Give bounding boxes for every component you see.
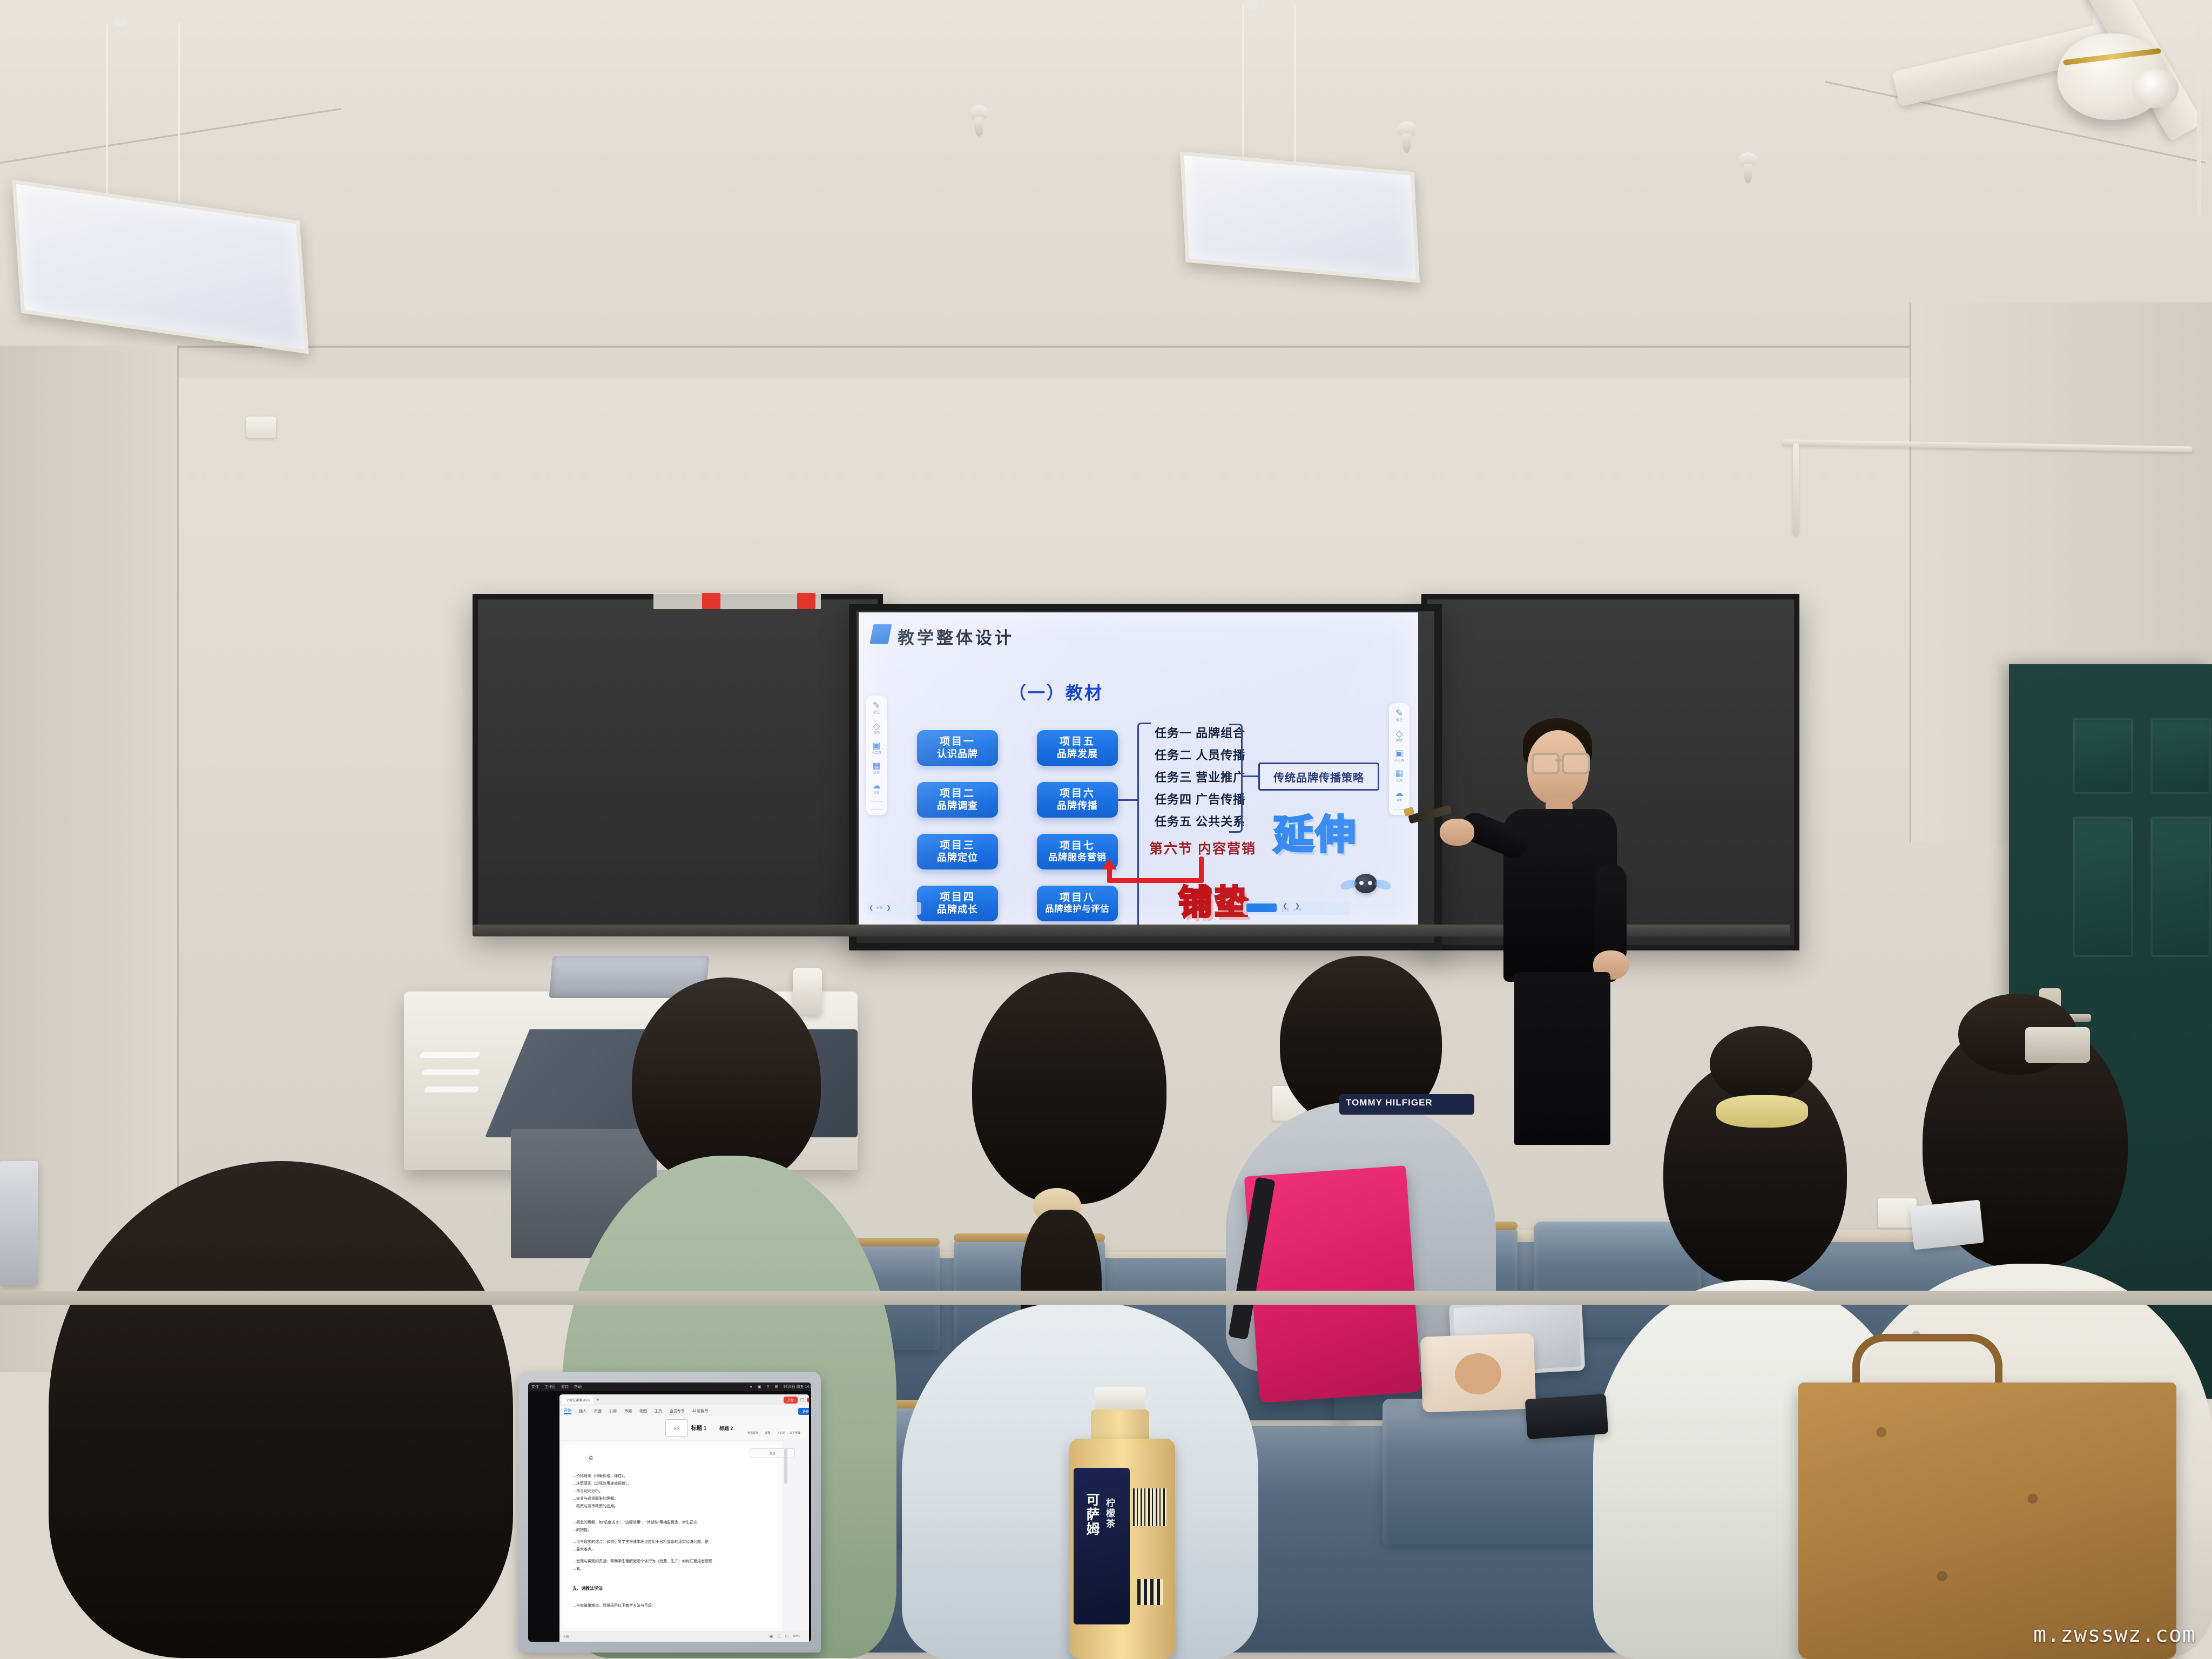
audience-foreground-left	[0, 1161, 572, 1659]
tool-eraser-right[interactable]: ◇ 擦除	[1395, 729, 1402, 743]
project-box-1[interactable]: 项目一 认识品牌	[917, 730, 998, 766]
tool-pen-right-label: 批注	[1396, 719, 1402, 722]
robot-wing-left	[1339, 878, 1357, 891]
tool-pen-right[interactable]: ✎ 批注	[1395, 709, 1403, 722]
tool-apps-left[interactable]: ▦ 应用	[872, 762, 880, 775]
tool-apps-left-label: 应用	[873, 772, 880, 775]
ribbon-tab-review[interactable]: 审阅	[624, 1408, 632, 1414]
audience-head-1	[49, 1161, 513, 1658]
red-arrow-head	[1102, 859, 1117, 869]
project-7-name: 品牌服务营销	[1048, 852, 1107, 863]
apps-icon: ▦	[872, 762, 880, 771]
laptop-screen[interactable]: 文件 工作区 窗口 帮助 ● ▣ ⚲ ☰ 9月5日 周五 14:05 平章说课课…	[528, 1382, 811, 1642]
ribbon-tab-insert[interactable]: 插入	[579, 1408, 586, 1414]
ribbon-content[interactable]: A 内容	[778, 1431, 785, 1435]
project-8-name: 品牌维护与评估	[1045, 905, 1109, 915]
robot-wing-right	[1374, 878, 1392, 891]
wps-ribbon-tabs[interactable]: 开始 插入 页面 引用 审阅 视图 工具 会员专享 AI 帮我写 协作	[559, 1406, 809, 1416]
pen-icon: ✎	[1395, 709, 1403, 718]
status-page-label: 页面	[563, 1635, 569, 1638]
strategy-label-box: 传统品牌传播策略	[1258, 763, 1379, 791]
board-tape-left	[653, 593, 821, 609]
project-5-number: 项目五	[1060, 736, 1095, 748]
tool-capture-right-label: 小工具	[1394, 759, 1404, 763]
comment-chip[interactable]: 批注	[750, 1448, 795, 1458]
task-bracket-right	[1229, 724, 1243, 833]
tool-apps-right[interactable]: ▦ 应用	[1395, 770, 1403, 783]
window-restore-icon[interactable]: ☐	[800, 1398, 804, 1402]
sprinkler-head-2	[1394, 122, 1419, 155]
ceiling-fan	[1998, 0, 2212, 227]
doc-line-5: …政策与货币政策的应用。	[572, 1503, 618, 1509]
light-mount-center	[1245, 0, 1259, 10]
annotation-yanshen: 延伸	[1273, 802, 1358, 860]
document-scrollbar[interactable]	[784, 1448, 787, 1484]
tool-eraser-left-label: 擦除	[873, 732, 880, 735]
project-7-number: 项目七	[1060, 840, 1095, 852]
door-panel-top-right	[2150, 718, 2211, 794]
project-2-name: 品牌调查	[937, 800, 978, 812]
hair-bun	[1710, 1026, 1812, 1102]
presenter-hand-pointing	[1440, 819, 1474, 846]
bottle-label	[1074, 1468, 1130, 1624]
strategy-label-text: 传统品牌传播策略	[1273, 769, 1364, 785]
menubar-clock: 9月5日 周五 14:05	[784, 1384, 811, 1390]
ceiling-panel-light-center	[1180, 151, 1420, 282]
nav-prev-label: 上一页	[1281, 909, 1289, 912]
doc-line-13: …与突破重难点，我将采用以下教学方法与手段：	[572, 1603, 656, 1608]
secondary-laptop-sliver[interactable]	[0, 1161, 38, 1285]
annotation-pudian: 铺垫	[1178, 875, 1251, 923]
doc-line-10: …宏观与微观的贯通：帮助学生理解微观个体行为（消费、生产）如何汇聚成宏观现	[572, 1559, 712, 1564]
account-upgrade-badge[interactable]: 升级	[784, 1397, 798, 1404]
bottle-neck	[1091, 1410, 1149, 1443]
connector-strategy	[1241, 775, 1258, 777]
comment-chip-label: 批注	[770, 1452, 775, 1455]
glasses-lens-right	[1562, 753, 1590, 774]
project-box-2[interactable]: 项目二 品牌调查	[917, 782, 998, 818]
tool-pen-left[interactable]: ✎ 批注	[873, 701, 880, 714]
battery-icon[interactable]: ▣	[758, 1385, 761, 1389]
project-1-name: 认识品牌	[937, 748, 978, 760]
doc-line-0: 点	[589, 1455, 593, 1461]
notebook-on-desk[interactable]	[1910, 1199, 1984, 1250]
light-mount-left	[113, 16, 127, 26]
slide-nav-bar[interactable]: ❮ 上一页 ❯ 下一页	[1243, 901, 1350, 915]
chevron-right-icon-2[interactable]: ❯	[886, 906, 891, 911]
project-8-number: 项目八	[1060, 892, 1095, 904]
project-1-number: 项目一	[940, 736, 975, 748]
ceiling-seam-b	[0, 346, 2212, 348]
pencil-pouch[interactable]	[1420, 1333, 1536, 1412]
search-icon[interactable]: ⚲	[766, 1385, 769, 1389]
view-web-icon[interactable]: ☐	[785, 1634, 788, 1638]
door-panel-top-left	[2073, 718, 2133, 794]
ribbon-tab-ai[interactable]: AI 帮我写	[692, 1408, 709, 1414]
doc-line-1: …价格理论（均衡价格、弹性）。	[572, 1473, 628, 1479]
tool-eraser-right-label: 擦除	[1396, 739, 1402, 743]
nav-progress-chip	[1246, 903, 1277, 912]
hair-band-yellow	[1716, 1095, 1808, 1128]
wifi-icon[interactable]: ●	[750, 1385, 752, 1389]
ribbon-tab-member[interactable]: 会员专享	[670, 1408, 685, 1414]
wps-tabbar[interactable]: 平章说课课.docx + 升级 ☐	[559, 1394, 809, 1405]
project-box-5[interactable]: 项目五 品牌发展	[1037, 730, 1118, 766]
mcm-handbag[interactable]	[1798, 1382, 2176, 1659]
bottle-sub-text: 柠檬茶	[1103, 1498, 1116, 1529]
style-heading-1[interactable]: 标题 1	[691, 1424, 706, 1432]
project-3-name: 品牌定位	[937, 852, 978, 864]
pen-icon: ✎	[873, 701, 880, 710]
wps-share-button[interactable]: 协作	[798, 1408, 809, 1415]
bottle-cap[interactable]	[1095, 1387, 1145, 1412]
project-2-number: 项目二	[940, 788, 975, 800]
laptop-menubar[interactable]: 文件 工作区 窗口 帮助 ● ▣ ⚲ ☰ 9月5日 周五 14:05	[528, 1382, 811, 1391]
blackboard-left	[473, 594, 883, 934]
project-box-4[interactable]: 项目四 品牌成长	[917, 886, 998, 921]
menubar-window[interactable]: 窗口	[561, 1384, 569, 1390]
fan-light-lens	[2132, 69, 2179, 108]
bottle-brand-text: 可萨姆	[1082, 1493, 1102, 1536]
eraser-icon: ◇	[1395, 729, 1402, 738]
hair-clip	[2025, 1027, 2090, 1063]
tool-pen-left-label: 批注	[873, 711, 880, 714]
project-5-name: 品牌发展	[1057, 748, 1098, 760]
project-box-3[interactable]: 项目三 品牌定位	[917, 834, 998, 869]
tool-capture-left[interactable]: ▣ 小工具	[872, 742, 881, 755]
toolbar-left-separator-2	[871, 809, 882, 810]
menubar-workspace[interactable]: 工作区	[544, 1384, 556, 1390]
menubar-help[interactable]: 帮助	[574, 1384, 582, 1390]
door-panel-bottom-left	[2073, 817, 2133, 957]
tool-cloud-right-label: 云盘	[1397, 799, 1402, 802]
project-3-number: 项目三	[940, 840, 975, 852]
ribbon-tab-view[interactable]: 视图	[639, 1408, 647, 1414]
wall-switch-plate-left[interactable]	[246, 416, 277, 439]
cloud-icon: ☁	[1395, 790, 1404, 798]
smartboard-toolbar-left[interactable]: ✎ 批注 ◇ 擦除 ▣ 小工具 ▦ 应用 ☁ 云盘	[866, 696, 887, 815]
apps-icon: ▦	[1395, 770, 1403, 778]
doc-line-6: …概念的理解：如“机会成本”、“边际效用”、“外部性”等抽象概念，学生初次	[572, 1520, 697, 1525]
nav-page-indicator: 9/32	[876, 907, 883, 910]
doc-line-9: …最大难点。	[572, 1547, 595, 1552]
project-4-number: 项目四	[940, 892, 975, 903]
bottle-qr-code	[1137, 1579, 1163, 1605]
podium-vent-1	[419, 1052, 481, 1058]
eraser-icon: ◇	[873, 721, 880, 731]
ceiling	[0, 0, 2212, 410]
robot-eye-right	[1368, 881, 1372, 885]
door-panel-bottom-right	[2150, 817, 2211, 957]
slide-nav-bar-left[interactable]: ❮ 9/32 ❯	[866, 902, 921, 915]
laptop[interactable]: 文件 工作区 窗口 帮助 ● ▣ ⚲ ☰ 9月5日 周五 14:05 平章说课课…	[518, 1372, 832, 1659]
plus-icon[interactable]: +	[596, 1397, 599, 1402]
ribbon-tab-tools[interactable]: 工具	[655, 1408, 662, 1414]
doc-line-2: …决策原则（边际效用递减规律）。	[572, 1481, 631, 1486]
light-rod-left-1	[106, 23, 108, 201]
light-rod-center-1	[1242, 4, 1244, 166]
section-six-label: 第六节 内容营销	[1149, 838, 1256, 858]
sprinkler-head-3	[1736, 152, 1761, 186]
classroom-scene: 教学整体设计 （一）教材 项目一 认识品牌 项目二 品牌调查 项目三 品牌定位 …	[0, 0, 2212, 1659]
style-normal-box[interactable]: 正文	[665, 1419, 688, 1437]
ribbon-select[interactable]: 选择	[765, 1431, 770, 1435]
phone-on-desk[interactable]	[1525, 1394, 1609, 1439]
light-rod-left-2	[178, 23, 180, 201]
tool-cloud-left-label: 云盘	[874, 792, 879, 794]
tool-capture-right[interactable]: ▣ 小工具	[1394, 750, 1404, 763]
cloud-icon: ☁	[872, 782, 881, 791]
nav-next-label: 下一页	[1293, 909, 1301, 912]
drink-bottle[interactable]: 可萨姆 柠檬茶	[1062, 1387, 1186, 1659]
project-box-6[interactable]: 项目六 品牌传播	[1037, 782, 1118, 818]
doc-heading-5: 五、说教法学法	[572, 1586, 603, 1591]
smartboard-toolbar-right[interactable]: ✎ 批注 ◇ 擦除 ▣ 小工具 ▦ 应用 ☁ 云盘	[1389, 703, 1410, 815]
zoom-out-icon[interactable]: −	[804, 1635, 806, 1638]
document-page[interactable]: 点 …价格理论（均衡价格、弹性）。 …决策原则（边际效用递减规律）。 …本与利润…	[559, 1441, 783, 1631]
wps-doc-tab[interactable]: 平章说课课.docx	[562, 1395, 594, 1404]
zoom-level-label: 100%	[793, 1635, 800, 1638]
wall-baseboard	[0, 1291, 2212, 1305]
view-layout-icon[interactable]: ▣	[770, 1634, 773, 1638]
control-center-icon[interactable]: ☰	[775, 1385, 778, 1389]
style-heading-2[interactable]: 标题 2	[719, 1425, 733, 1432]
tool-eraser-left[interactable]: ◇ 擦除	[873, 721, 880, 735]
doc-line-4: …失业与通货膨胀的理解。	[572, 1496, 618, 1501]
doc-line-7: …的把握。	[572, 1527, 591, 1533]
shirt-brand-label: TOMMY HILFIGER	[1346, 1097, 1433, 1108]
light-rod-center-2	[1294, 4, 1296, 166]
ribbon-find-replace[interactable]: 查找替换	[747, 1431, 758, 1435]
tool-apps-right-label: 应用	[1396, 779, 1402, 783]
podium-vent-3	[423, 1087, 480, 1092]
tool-cloud-right[interactable]: ☁ 云盘	[1395, 790, 1404, 802]
glasses-lens-left	[1532, 753, 1560, 774]
menubar-file[interactable]: 文件	[531, 1384, 539, 1390]
image-watermark: m.zwsswz.com	[2033, 1622, 2196, 1647]
ribbon-tab-reference[interactable]: 引用	[609, 1408, 617, 1414]
smartboard-screen[interactable]: 教学整体设计 （一）教材 项目一 认识品牌 项目二 品牌调查 项目三 品牌定位 …	[859, 612, 1418, 926]
toolbar-left-separator	[871, 801, 882, 802]
doc-line-11: …象。	[572, 1566, 584, 1572]
slide-subtitle: （一）教材	[1009, 679, 1103, 704]
doc-line-3: …本与利润分析。	[572, 1488, 603, 1494]
ribbon-tab-home[interactable]: 开始	[564, 1408, 571, 1414]
podium-vent-2	[421, 1069, 481, 1075]
pouch-character-face	[1454, 1353, 1502, 1395]
bottle-barcode	[1133, 1488, 1166, 1526]
task-bracket-left	[1137, 723, 1151, 926]
slide-header-title: 教学整体设计	[898, 624, 1014, 649]
robot-eye-left	[1359, 881, 1364, 885]
ribbon-typography[interactable]: 文字排版	[790, 1431, 800, 1435]
robot-assistant-icon[interactable]	[1354, 874, 1377, 893]
project-4-name: 品牌成长	[937, 904, 978, 915]
tool-cloud-left[interactable]: ☁ 云盘	[872, 782, 881, 794]
capture-icon: ▣	[1395, 750, 1403, 758]
connector-project6	[1118, 799, 1137, 801]
capture-icon: ▣	[872, 742, 880, 751]
tool-capture-left-label: 小工具	[872, 752, 881, 755]
wps-statusbar[interactable]: 页面 ▣ ☰ ☐ 100% − +	[559, 1631, 809, 1642]
project-6-name: 品牌传播	[1057, 800, 1098, 812]
slide-accent-tag	[870, 624, 892, 644]
window-close-icon[interactable]	[807, 1398, 809, 1402]
glasses-bridge	[1555, 759, 1563, 761]
wall-corner-right	[1910, 302, 1911, 842]
wall-conduit-vertical	[1793, 443, 1799, 535]
fan-rod-secondary	[2197, 22, 2201, 216]
doc-line-8: …论与现实的结合：如何引导学生将课本理论应用于分析复杂的现实经济问题，是	[572, 1539, 709, 1545]
chevron-left-icon-2[interactable]: ❮	[869, 906, 873, 911]
project-6-number: 项目六	[1060, 788, 1095, 800]
audience-head-3	[972, 972, 1166, 1204]
ribbon-tab-page[interactable]: 页面	[594, 1408, 602, 1414]
view-outline-icon[interactable]: ☰	[777, 1634, 780, 1638]
wps-window[interactable]: 平章说课课.docx + 升级 ☐ 开始 插入 页面 引用 审阅 视图 工具 会	[559, 1394, 809, 1642]
sprinkler-head-1	[967, 105, 992, 139]
project-box-8[interactable]: 项目八 品牌维护与评估	[1037, 886, 1118, 921]
